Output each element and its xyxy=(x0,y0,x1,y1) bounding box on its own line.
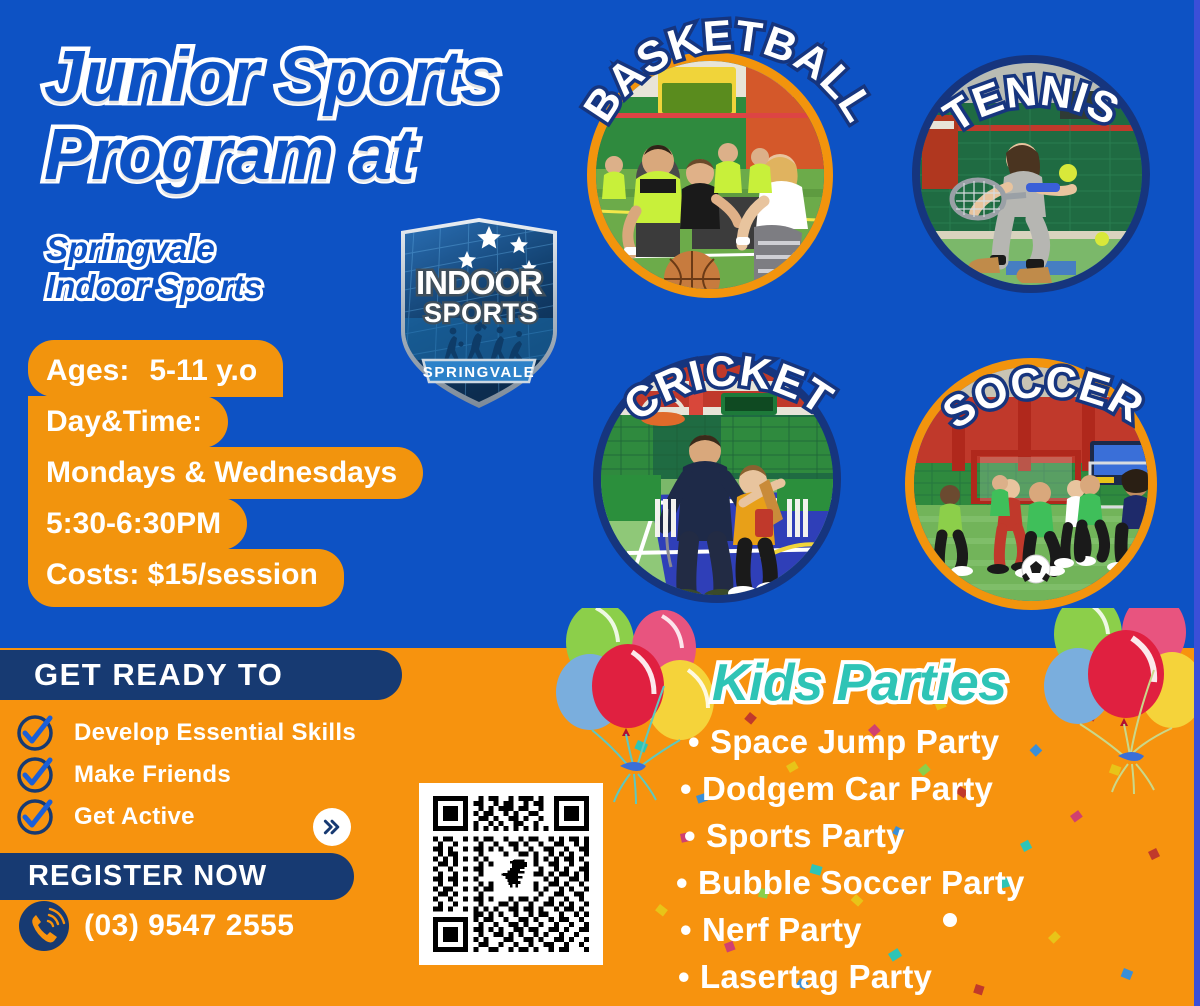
daytime-label-row: Day&Time: xyxy=(28,396,228,448)
double-chevron-icon[interactable] xyxy=(313,808,351,846)
kids-parties-title: Kids Parties xyxy=(712,653,1007,713)
list-item: •Dodgem Car Party xyxy=(680,765,1200,812)
list-item: Get Active xyxy=(16,796,436,838)
phone-icon xyxy=(18,900,70,952)
list-item: •Nerf Party xyxy=(680,906,1200,953)
ages-row: Ages:5-11 y.o xyxy=(28,340,283,397)
kids-parties-section: Kids Parties •Space Jump Party •Dodgem C… xyxy=(640,648,1200,1006)
party-label: Dodgem Car Party xyxy=(702,770,993,807)
party-label: Space Jump Party xyxy=(710,723,999,760)
days-row: Mondays & Wednesdays xyxy=(28,447,423,499)
time-row: 5:30-6:30PM xyxy=(28,498,247,550)
program-details-panel: Ages:5-11 y.o Day&Time: Mondays & Wednes… xyxy=(28,340,498,607)
logo-indoor-text: INDOOR xyxy=(416,264,543,301)
basketball-photo xyxy=(587,52,833,298)
list-item: •Lasertag Party xyxy=(678,953,1200,1000)
poster-canvas: Junior Sports Program at Springvale Indo… xyxy=(0,0,1200,1006)
check-circle-icon xyxy=(16,756,54,794)
phone-number: (03) 9547 2555 xyxy=(84,909,295,943)
headline-line-2: Program at xyxy=(44,116,604,194)
check-circle-icon xyxy=(16,798,54,836)
right-border-strip xyxy=(1194,0,1200,1006)
party-label: Lasertag Party xyxy=(700,958,932,995)
benefits-list: Develop Essential Skills Make Friends Ge… xyxy=(16,712,436,838)
svg-text:SPORTS: SPORTS xyxy=(424,298,538,328)
tennis-photo xyxy=(912,55,1150,293)
venue-line-2: Indoor Sports xyxy=(46,268,426,306)
phone-contact[interactable]: (03) 9547 2555 xyxy=(18,900,295,952)
soccer-photo xyxy=(905,358,1157,610)
logo-sports-text: SPORTS xyxy=(424,298,538,328)
venue-subtitle: Springvale Indoor Sports xyxy=(46,230,426,306)
qr-code[interactable] xyxy=(419,783,603,965)
cost-row: Costs: $15/session xyxy=(28,549,344,607)
ages-label: Ages: xyxy=(46,354,129,387)
svg-text:INDOOR: INDOOR xyxy=(416,264,543,301)
list-item: Make Friends xyxy=(16,754,436,796)
benefit-label: Make Friends xyxy=(74,761,231,789)
benefit-label: Develop Essential Skills xyxy=(74,719,356,747)
ages-value: 5-11 y.o xyxy=(149,354,257,387)
page-title: Junior Sports Program at xyxy=(44,38,604,194)
venue-line-1: Springvale xyxy=(46,230,426,268)
list-item: •Bubble Soccer Party xyxy=(676,859,1200,906)
cricket-photo xyxy=(593,355,841,603)
get-ready-heading: GET READY TO xyxy=(0,650,402,700)
party-label: Bubble Soccer Party xyxy=(698,864,1025,901)
list-item: Develop Essential Skills xyxy=(16,712,436,754)
party-label: Sports Party xyxy=(706,817,905,854)
list-item: •Space Jump Party xyxy=(688,718,1200,765)
party-options-list: •Space Jump Party •Dodgem Car Party •Spo… xyxy=(670,718,1200,1000)
list-item: •Sports Party xyxy=(684,812,1200,859)
benefit-label: Get Active xyxy=(74,803,195,831)
check-circle-icon xyxy=(16,714,54,752)
party-label: Nerf Party xyxy=(702,911,862,948)
headline-line-1: Junior Sports xyxy=(44,37,499,117)
register-now-button[interactable]: REGISTER NOW xyxy=(0,853,354,900)
